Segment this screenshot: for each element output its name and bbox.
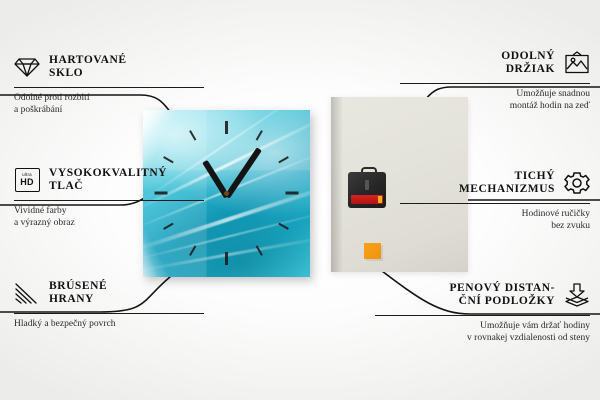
foam-spacer-pad: [364, 243, 381, 259]
feature-title: VYSOKOKVALITNÝ TLAČ: [49, 167, 167, 194]
gear-icon: [564, 170, 590, 196]
feature-high-quality-print: ultra HD VYSOKOKVALITNÝ TLAČ Vividné far…: [14, 163, 204, 229]
feature-divider: [375, 315, 590, 316]
mechanism-shaft: [365, 180, 369, 190]
feature-silent-mechanism: TICHÝ MECHANIZMUS Hodinové ručičky bez z…: [400, 166, 590, 232]
feature-description: Umožňuje snadnou montáž hodin na zeď: [400, 88, 590, 112]
feature-divider: [14, 87, 204, 88]
feature-description: Hodinové ručičky bez zvuku: [400, 208, 590, 232]
feature-description: Umožňuje vám držať hodiny v rovnakej vzd…: [375, 320, 590, 344]
ultra-hd-icon: ultra HD: [14, 167, 40, 193]
feature-description: Hladký a bezpečný povrch: [14, 318, 204, 330]
feature-divider: [400, 83, 590, 84]
clock-center-cap: [224, 191, 229, 196]
feature-title: TICHÝ MECHANIZMUS: [459, 170, 555, 197]
arrow-onto-stack-icon: [564, 282, 590, 308]
feature-description: Odolné proti rozbití a poškrábání: [14, 92, 204, 116]
feature-title: ODOLNÝ DRŽIAK: [501, 50, 555, 77]
feature-foam-spacers: PENOVÝ DISTAN- ČNÍ PODLOŽKY Umožňuje vám…: [375, 278, 590, 344]
diamond-icon: [14, 54, 40, 80]
hatched-edge-icon: [14, 280, 40, 306]
feature-hardened-glass: HARTOVANÉ SKLO Odolné proti rozbití a po…: [14, 50, 204, 116]
feature-durable-holder: ODOLNÝ DRŽIAK Umožňuje snadnou montáž ho…: [400, 46, 590, 112]
feature-divider: [14, 200, 204, 201]
feature-title: PENOVÝ DISTAN- ČNÍ PODLOŽKY: [449, 282, 555, 309]
infographic-canvas: HARTOVANÉ SKLO Odolné proti rozbití a po…: [0, 0, 600, 400]
clock-mechanism: [348, 172, 386, 208]
ultra-hd-big-label: HD: [20, 178, 33, 187]
feature-description: Vividné farby a výrazný obraz: [14, 205, 204, 229]
picture-hanger-icon: [564, 50, 590, 76]
feature-ground-edges: BRÚSENÉ HRANY Hladký a bezpečný povrch: [14, 276, 204, 330]
mechanism-body: [348, 172, 386, 208]
feature-divider: [14, 313, 204, 314]
feature-title: HARTOVANÉ SKLO: [49, 54, 127, 81]
feature-title: BRÚSENÉ HRANY: [49, 280, 107, 307]
feature-divider: [400, 203, 590, 204]
mechanism-battery: [351, 195, 383, 204]
